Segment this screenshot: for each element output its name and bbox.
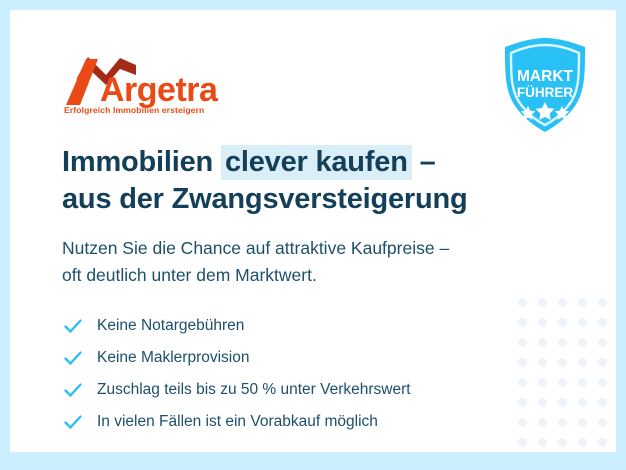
- markt-fuehrer-badge: MARKT FÜHRER: [498, 36, 592, 134]
- badge-line1: MARKT: [517, 68, 573, 85]
- subheading-line1: Nutzen Sie die Chance auf attraktive Kau…: [62, 235, 562, 262]
- check-icon: [63, 380, 83, 400]
- headline-line2: aus der Zwangsversteigerung: [62, 181, 542, 218]
- benefit-label: Keine Notargebühren: [97, 317, 244, 335]
- list-item: Keine Maklerprovision: [63, 342, 533, 374]
- list-item: Zuschlag teils bis zu 50 % unter Verkehr…: [63, 374, 533, 406]
- badge-line2: FÜHRER: [517, 85, 573, 100]
- benefit-label: Keine Maklerprovision: [97, 349, 250, 367]
- headline-highlight: clever kaufen: [221, 145, 412, 180]
- headline-part2: –: [412, 146, 436, 178]
- subheading: Nutzen Sie die Chance auf attraktive Kau…: [62, 235, 562, 289]
- benefit-label: In vielen Fällen ist ein Vorabkauf mögli…: [97, 413, 378, 431]
- svg-text:Argetra: Argetra: [100, 71, 219, 109]
- benefit-list: Keine Notargebühren Keine Maklerprovisio…: [63, 310, 533, 438]
- list-item: Keine Notargebühren: [63, 310, 533, 342]
- argetra-logo[interactable]: Argetra Erfolgreich Immobilien ersteiger…: [62, 53, 262, 115]
- benefit-label: Zuschlag teils bis zu 50 % unter Verkehr…: [97, 381, 411, 399]
- promo-frame: Argetra Erfolgreich Immobilien ersteiger…: [0, 0, 626, 470]
- logo-tagline: Erfolgreich Immobilien ersteigern: [64, 105, 204, 115]
- list-item: In vielen Fällen ist ein Vorabkauf mögli…: [63, 406, 533, 438]
- promo-card: Argetra Erfolgreich Immobilien ersteiger…: [10, 10, 616, 452]
- check-icon: [63, 316, 83, 336]
- check-icon: [63, 412, 83, 432]
- headline-part1: Immobilien: [62, 146, 221, 178]
- check-icon: [63, 348, 83, 368]
- page-title: Immobilien clever kaufen – aus der Zwang…: [62, 144, 542, 218]
- subheading-line2: oft deutlich unter dem Marktwert.: [62, 262, 562, 289]
